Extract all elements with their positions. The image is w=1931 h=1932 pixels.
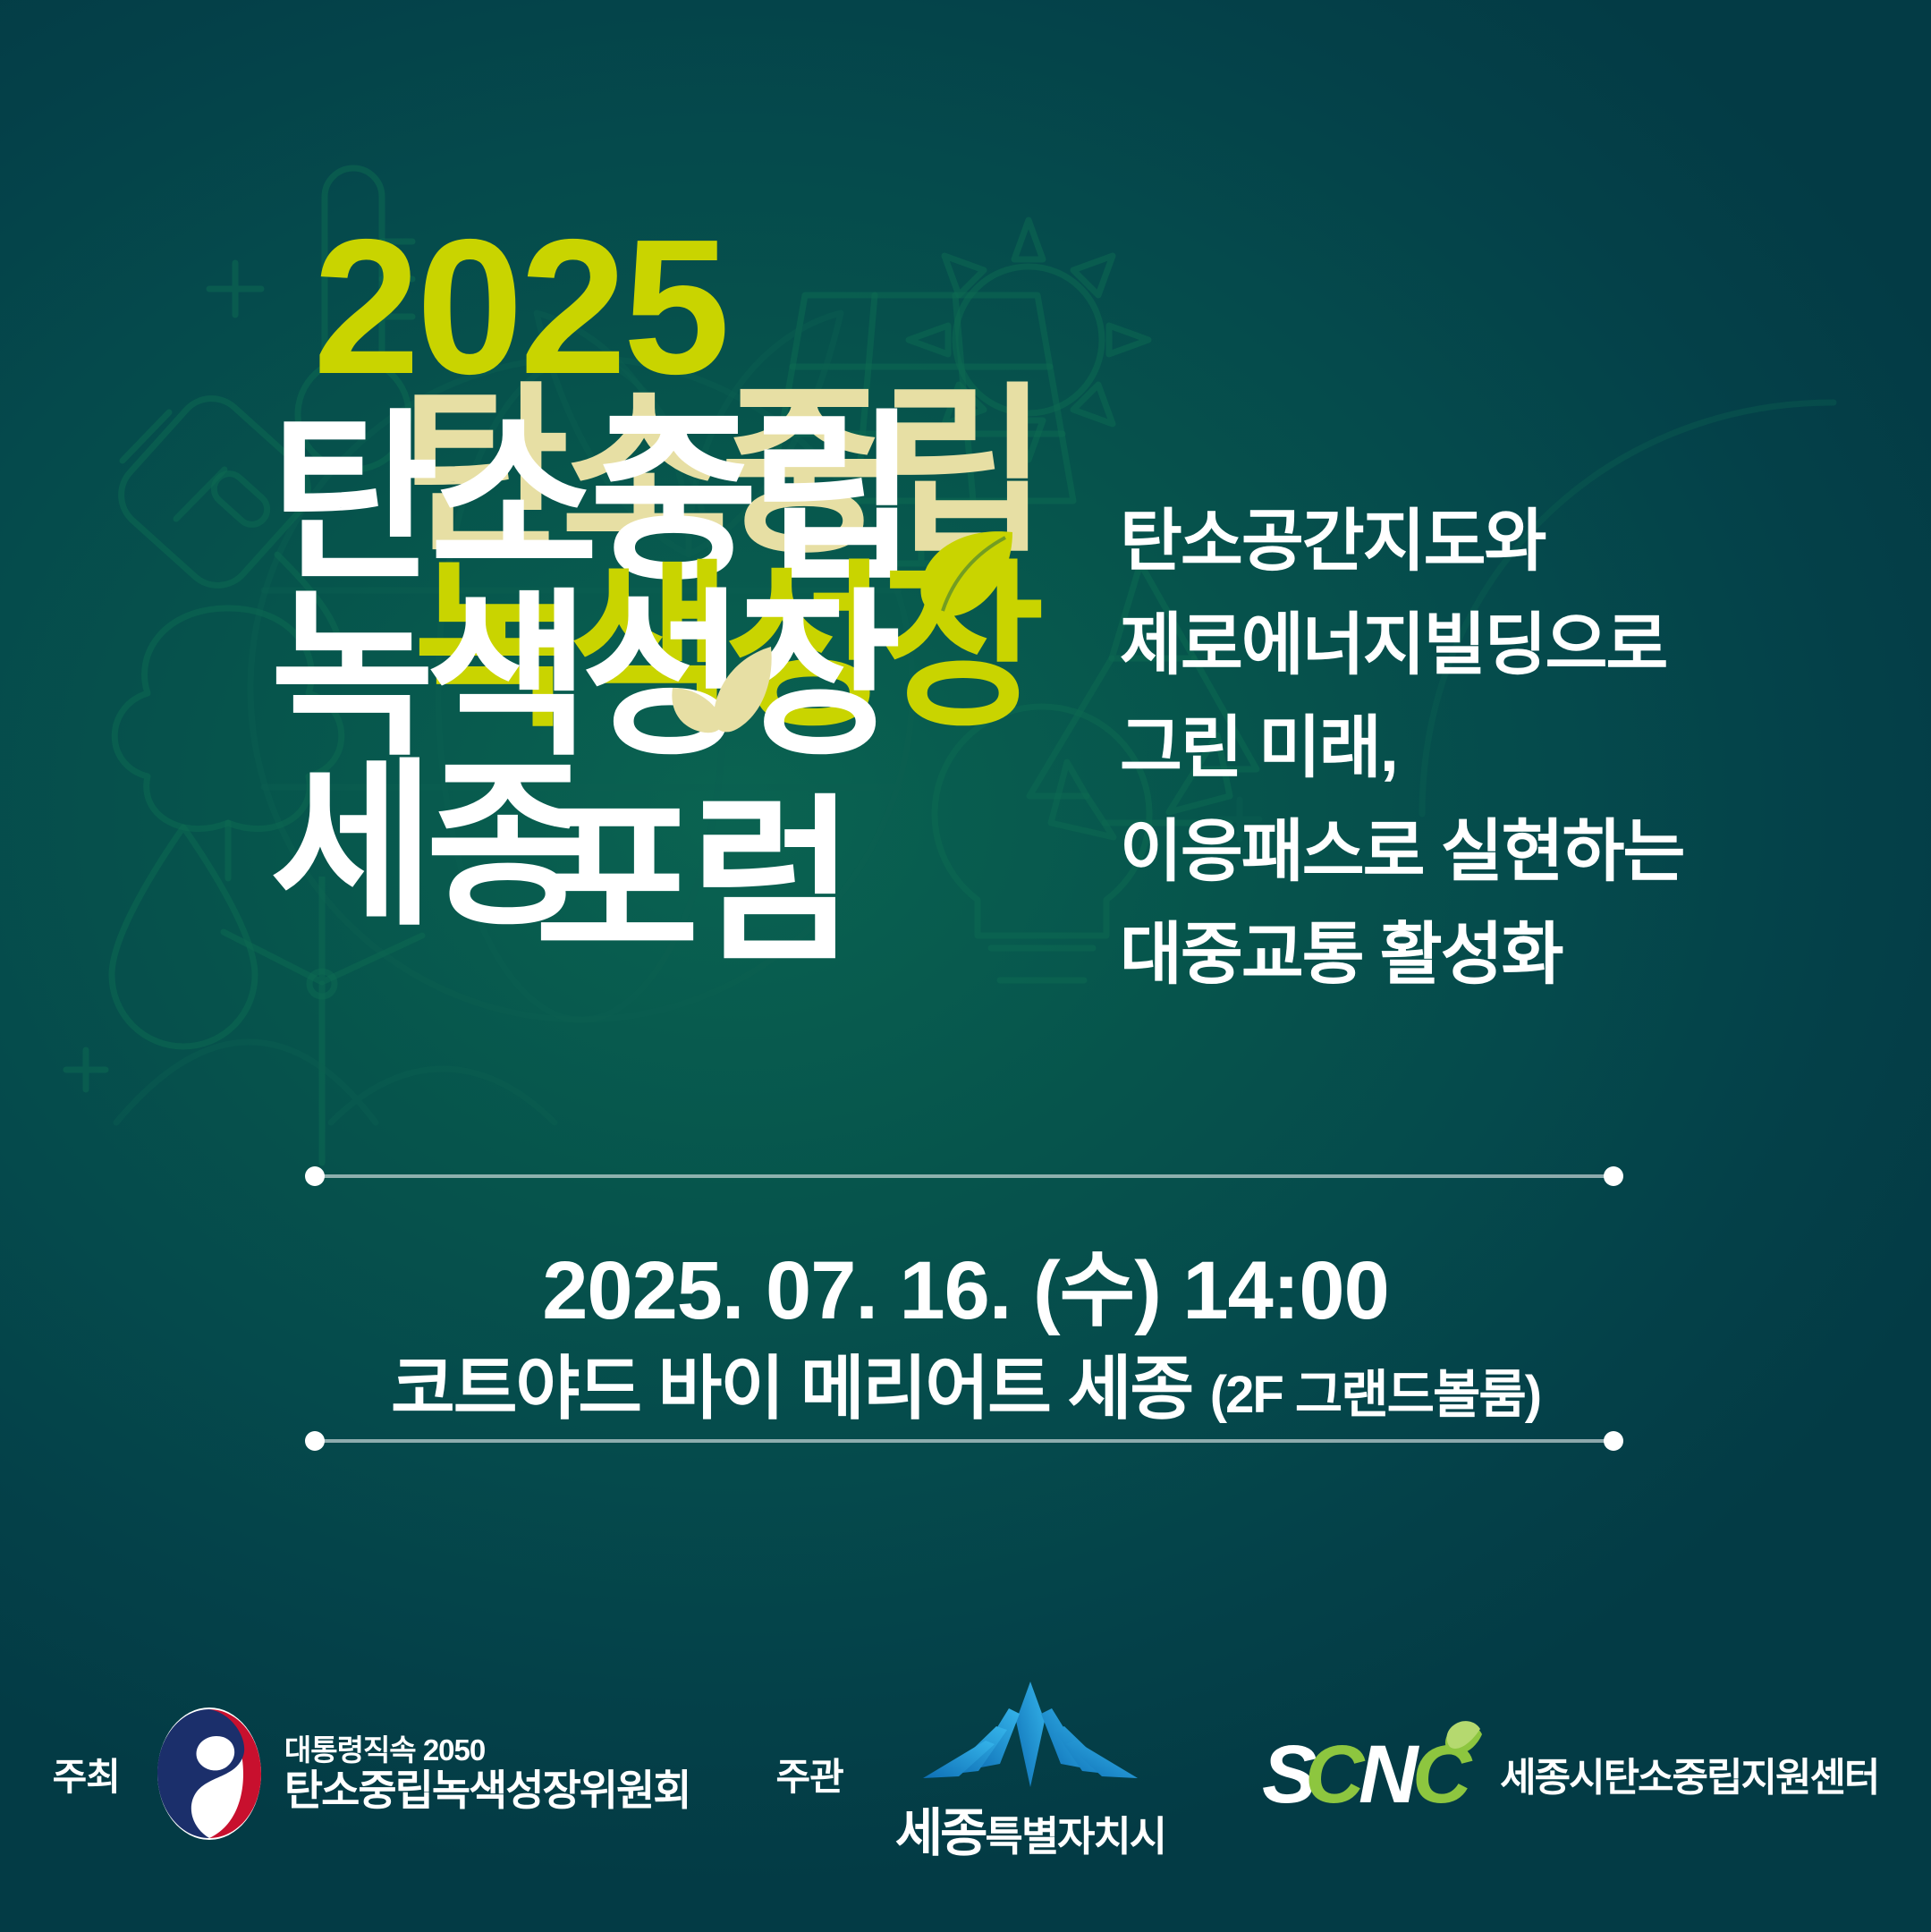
plus-icon xyxy=(195,249,275,329)
water-drop-icon xyxy=(89,805,277,1064)
description-line-4: 이응패스로 실현하는 xyxy=(1120,801,1907,904)
title-green-growth-white: 녹색성장 xyxy=(270,595,893,759)
host-label: 주최 xyxy=(53,1747,120,1801)
committee-logo-line1: 대통령직속 2050 xyxy=(284,1733,690,1767)
poster-title-block: 2025 탄소중립 탄소중립 녹색성장 녹색성장 세종 포럼 xyxy=(295,228,1082,1033)
scnc-wordmark-icon: S C N C xyxy=(1262,1720,1486,1827)
title-forum: 포럼 xyxy=(535,801,846,965)
sejong-city-logo: 세종특별자치시 xyxy=(874,1682,1165,1866)
committee-logo-line2: 탄소중립녹색성장위원회 xyxy=(284,1767,690,1814)
venue-sub: (2F 그랜드볼룸) xyxy=(1210,1366,1540,1424)
poster-description: 탄소공간지도와 제로에너지빌딩으로 그린 미래, 이응패스로 실현하는 대중교통… xyxy=(1120,490,1907,1007)
taegeuk-icon xyxy=(150,1702,268,1845)
footer-logo-bar: 주최 대통령직속 2050 탄소중립녹색성장위원회 주관 xyxy=(0,1682,1931,1866)
description-line-3: 그린 미래, xyxy=(1120,697,1907,801)
carbon-neutrality-committee-logo: 대통령직속 2050 탄소중립녹색성장위원회 xyxy=(150,1702,690,1845)
sejong-wing-icon xyxy=(896,1682,1165,1789)
leaf-accent-green-icon xyxy=(912,523,1020,622)
plus-icon xyxy=(54,1038,118,1102)
description-line-2: 제로에너지빌딩으로 xyxy=(1120,594,1907,698)
event-poster: 2025 탄소중립 탄소중립 녹색성장 녹색성장 세종 포럼 탄소공간지도와 제… xyxy=(0,0,1931,1932)
organizer-group: 주관 xyxy=(776,1682,1166,1866)
organizer-label: 주관 xyxy=(776,1747,843,1801)
description-line-1: 탄소공간지도와 xyxy=(1120,490,1907,594)
event-datetime: 2025. 07. 16. (수) 14:00 xyxy=(0,1224,1931,1343)
event-venue: 코트야드 바이 메리어트 세종 (2F 그랜드볼룸) xyxy=(0,1333,1931,1433)
description-line-5: 대중교통 활성화 xyxy=(1120,903,1907,1007)
divider-top xyxy=(315,1174,1613,1178)
scnc-logo: S C N C 세종시탄소중립지원센터 xyxy=(1262,1720,1878,1827)
leaf-accent-cream-icon xyxy=(658,641,783,740)
divider-bottom xyxy=(315,1439,1613,1443)
scnc-logo-text: 세종시탄소중립지원센터 xyxy=(1500,1745,1878,1802)
svg-text:N: N xyxy=(1359,1729,1420,1820)
venue-main: 코트야드 바이 메리어트 세종 xyxy=(391,1349,1192,1428)
sejong-logo-small: 특별자치시 xyxy=(986,1813,1166,1860)
host-group: 주최 대통령직속 2050 탄소중립녹색성장위원회 xyxy=(53,1702,690,1845)
sejong-logo-big: 세종 xyxy=(895,1804,986,1862)
svg-text:C: C xyxy=(1305,1729,1366,1820)
